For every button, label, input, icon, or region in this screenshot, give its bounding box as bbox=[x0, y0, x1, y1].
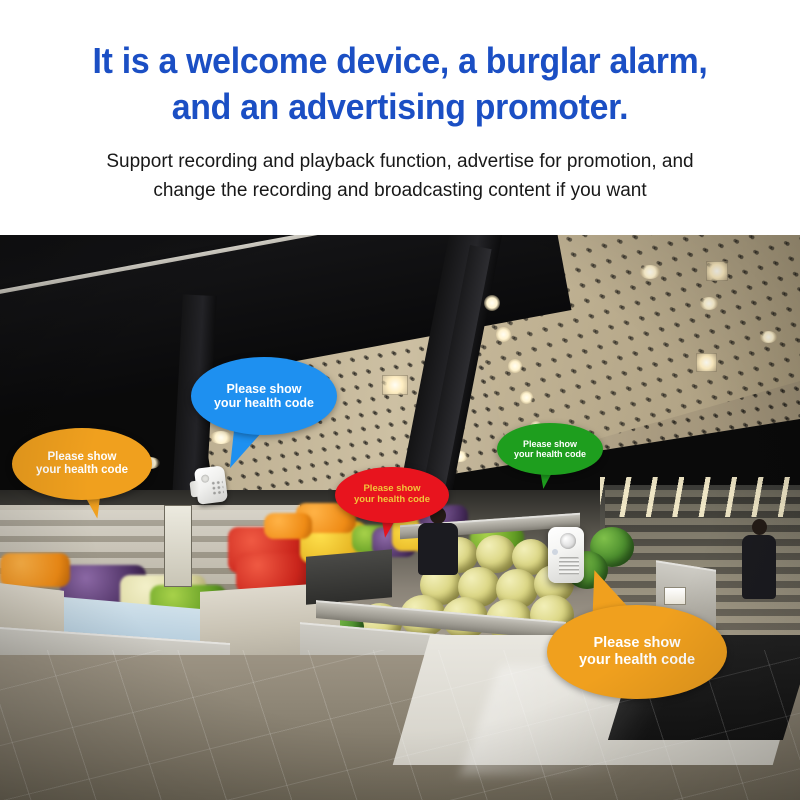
ceiling-downlight bbox=[760, 331, 777, 343]
speech-bubble-green: Please show your health code bbox=[497, 423, 603, 475]
page-title: It is a welcome device, a burglar alarm,… bbox=[24, 38, 776, 130]
page-subtitle: Support recording and playback function,… bbox=[0, 148, 800, 205]
sensor-speaker-grille-icon bbox=[211, 480, 225, 495]
ceiling-downlight bbox=[640, 265, 660, 279]
headline-line-1: It is a welcome device, a burglar alarm, bbox=[24, 38, 776, 84]
right-track-lighting bbox=[600, 477, 800, 517]
produce-bin-dark bbox=[306, 549, 392, 605]
track-light bbox=[508, 359, 522, 373]
track-light bbox=[496, 327, 511, 342]
ceiling-downlight-square bbox=[706, 261, 728, 281]
countertop-alarm-device bbox=[548, 527, 584, 583]
bubble-text-green: Please show your health code bbox=[508, 439, 592, 460]
bubble-text-red: Please show your health code bbox=[348, 484, 436, 506]
shopper-head bbox=[752, 519, 767, 535]
pir-sensor-icon bbox=[560, 533, 576, 549]
ceiling-downlight bbox=[700, 297, 718, 310]
signage-panel bbox=[164, 505, 192, 587]
header-section: It is a welcome device, a burglar alarm,… bbox=[0, 0, 800, 235]
produce-citrus-left bbox=[0, 553, 70, 587]
bubble-text-orange-big: Please show your health code bbox=[573, 635, 701, 668]
ceiling-downlight-square bbox=[382, 375, 408, 395]
led-indicator-icon bbox=[552, 549, 558, 555]
price-card bbox=[664, 587, 686, 605]
headline-line-2: and an advertising promoter. bbox=[24, 84, 776, 130]
ceiling-downlight-square bbox=[696, 353, 717, 372]
subheadline-line-2: change the recording and broadcasting co… bbox=[0, 177, 800, 206]
subheadline-line-1: Support recording and playback function,… bbox=[0, 148, 800, 177]
supermarket-scene-photo: Please show your health code Please show… bbox=[0, 235, 800, 800]
speech-bubble-orange-big: Please show your health code bbox=[547, 605, 727, 699]
track-light bbox=[520, 391, 533, 404]
sensor-mount-bracket bbox=[189, 481, 200, 498]
speech-bubble-blue: Please show your health code bbox=[191, 357, 337, 435]
product-marketing-banner: It is a welcome device, a burglar alarm,… bbox=[0, 0, 800, 800]
track-light bbox=[484, 295, 500, 311]
produce-oranges bbox=[264, 513, 312, 539]
bubble-text-blue: Please show your health code bbox=[208, 382, 320, 411]
bubble-text-orange-left: Please show your health code bbox=[30, 451, 134, 477]
sensor-lens-icon bbox=[201, 474, 210, 483]
speech-bubble-orange-left: Please show your health code bbox=[12, 428, 152, 500]
shopper-body bbox=[742, 535, 776, 599]
speaker-grille-icon bbox=[559, 557, 579, 575]
speech-bubble-red: Please show your health code bbox=[335, 467, 449, 523]
wall-mounted-sensor-device bbox=[194, 465, 228, 504]
shopper-body bbox=[418, 523, 458, 575]
